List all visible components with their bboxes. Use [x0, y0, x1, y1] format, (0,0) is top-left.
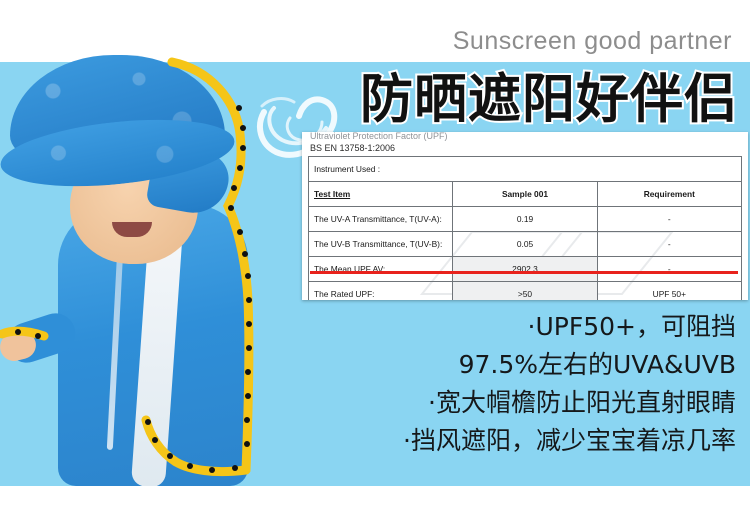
rated-upf-highlight-underline	[310, 271, 738, 274]
row-label-mean-upf: The Mean UPF AV:	[309, 257, 453, 282]
row-value-rated-upf: >50	[453, 282, 597, 301]
row-value-uvb: 0.05	[453, 232, 597, 257]
row-req-uvb: -	[597, 232, 741, 257]
product-photo	[0, 0, 300, 486]
upf-test-report-card: Ultraviolet Protection Factor (UPF) BS E…	[302, 132, 748, 300]
column-header-requirement: Requirement	[597, 182, 741, 207]
table-header-row: Test Item Sample 001 Requirement	[309, 182, 742, 207]
instrument-used-cell: Instrument Used :	[309, 157, 742, 182]
promo-banner: Sunscreen good partner 防晒遮阳好伴侣 Ultraviol…	[0, 0, 750, 508]
column-header-test-item: Test Item	[309, 182, 453, 207]
table-row-instrument: Instrument Used :	[309, 157, 742, 182]
row-value-mean-upf: 2902.3	[453, 257, 597, 282]
page-title: 防晒遮阳好伴侣	[360, 72, 738, 128]
report-standard: BS EN 13758-1:2006	[310, 143, 395, 153]
row-value-uva: 0.19	[453, 207, 597, 232]
table-row: The Mean UPF AV: 2902.3 -	[309, 257, 742, 282]
table-row: The UV-B Transmittance, T(UV-B): 0.05 -	[309, 232, 742, 257]
subheadline: Sunscreen good partner	[453, 27, 732, 56]
row-req-uva: -	[597, 207, 741, 232]
table-row: The UV-A Transmittance, T(UV-A): 0.19 -	[309, 207, 742, 232]
row-label-rated-upf: The Rated UPF:	[309, 282, 453, 301]
list-item: ·UPF50+，可阻挡	[316, 308, 736, 346]
column-header-sample: Sample 001	[453, 182, 597, 207]
row-req-mean-upf: -	[597, 257, 741, 282]
row-label-uvb: The UV-B Transmittance, T(UV-B):	[309, 232, 453, 257]
report-title-cut: Ultraviolet Protection Factor (UPF)	[310, 132, 740, 141]
row-label-uva: The UV-A Transmittance, T(UV-A):	[309, 207, 453, 232]
list-item: 97.5%左右的UVA&UVB	[316, 346, 736, 384]
report-table: Instrument Used : Test Item Sample 001 R…	[308, 156, 742, 300]
list-item: ·宽大帽檐防止阳光直射眼睛	[316, 384, 736, 422]
bottom-white-strip	[0, 486, 750, 508]
feature-list: ·UPF50+，可阻挡 97.5%左右的UVA&UVB ·宽大帽檐防止阳光直射眼…	[316, 308, 736, 460]
row-req-rated-upf: UPF 50+	[597, 282, 741, 301]
list-item: ·挡风遮阳，减少宝宝着凉几率	[316, 422, 736, 460]
table-row: The Rated UPF: >50 UPF 50+	[309, 282, 742, 301]
